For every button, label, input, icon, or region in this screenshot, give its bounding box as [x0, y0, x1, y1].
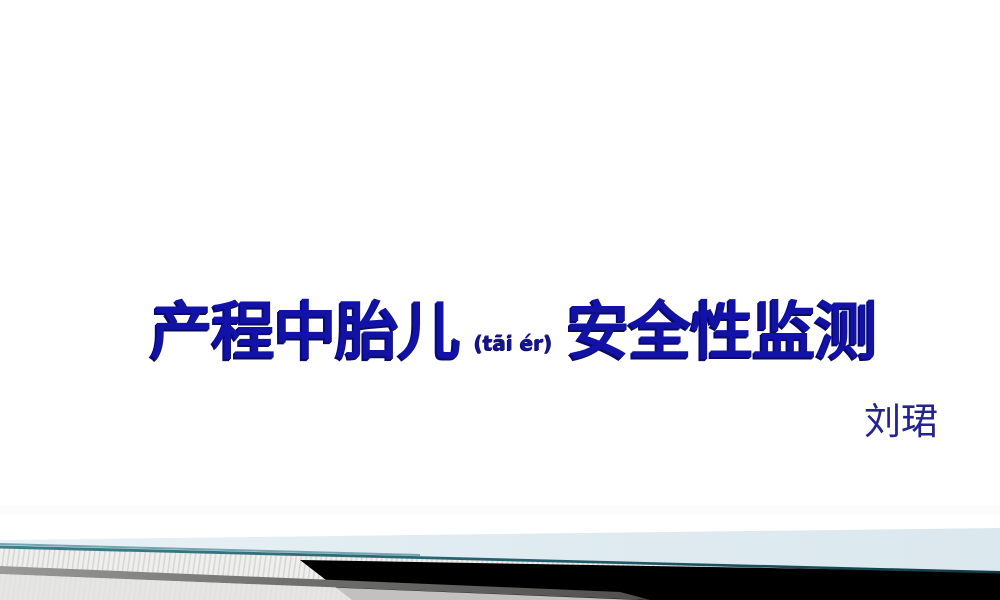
- footer-faint-wash: [0, 505, 1000, 515]
- gray-lower-band: [0, 574, 640, 600]
- black-wedge: [300, 560, 1000, 600]
- title-segment-2: 安全性监测: [567, 300, 877, 363]
- slide-title[interactable]: 产程中胎儿 (tāi ér) 安全性监测: [150, 300, 877, 363]
- title-pinyin-annotation: (tāi ér): [460, 333, 567, 363]
- striped-field: [0, 548, 1000, 600]
- presentation-slide: 产程中胎儿 (tāi ér) 安全性监测 刘珺: [0, 0, 1000, 600]
- teal-hairline: [0, 546, 1000, 574]
- gray-diagonal-wedge: [0, 566, 650, 600]
- author-name[interactable]: 刘珺: [864, 403, 938, 440]
- pale-blue-wedge: [0, 528, 1000, 573]
- title-segment-1: 产程中胎儿: [150, 300, 460, 363]
- teal-hairline-secondary: [0, 543, 420, 556]
